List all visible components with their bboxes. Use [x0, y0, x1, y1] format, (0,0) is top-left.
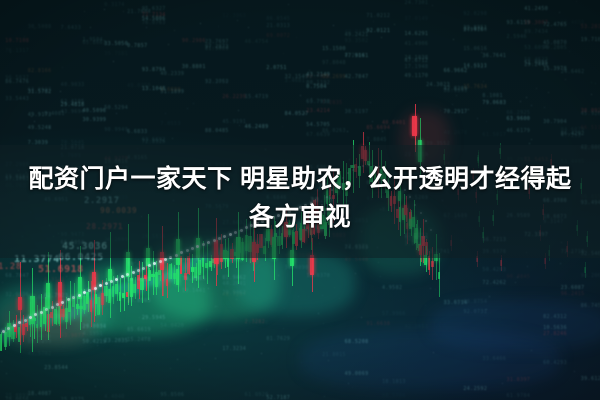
page-title: 配资门户一家天下 明星助农，公开透明才经得起 各方审视 — [0, 160, 600, 236]
banner-image: 68.784778.065657.106311.016732.089696.58… — [0, 0, 600, 400]
